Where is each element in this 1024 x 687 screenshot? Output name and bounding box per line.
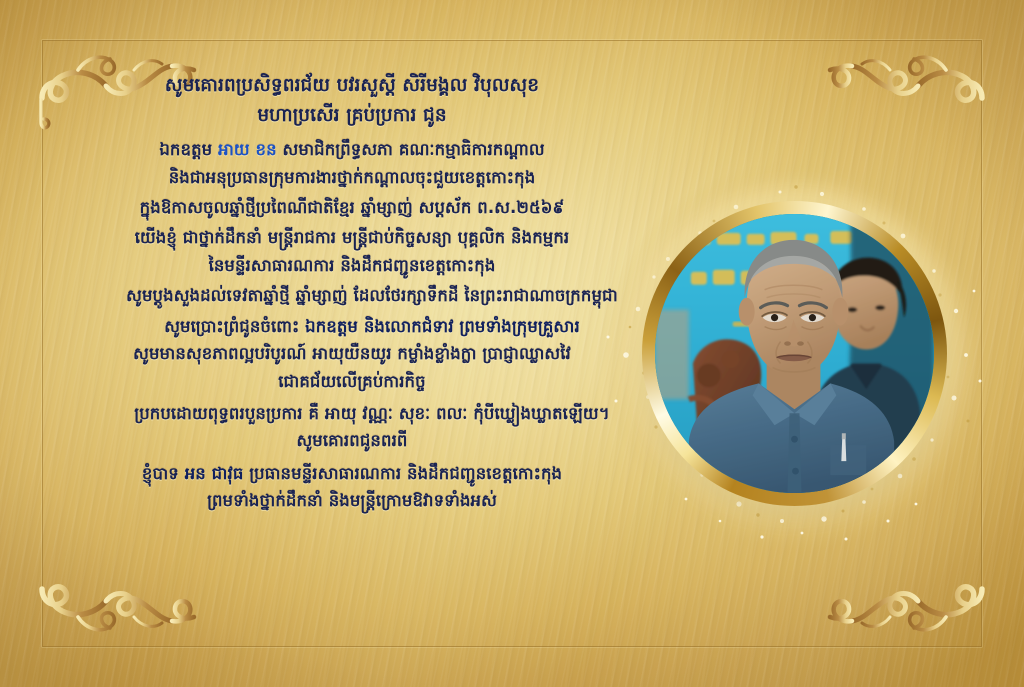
greeting-card: សូមគោរពប្រសិទ្ធពរជ័យ បវរសួស្ដី សិរីមង្គល… [0,0,1024,687]
greeting-body-line-4: យើងខ្ញុំ ជាថ្នាក់ដឹកនាំ មន្ត្រីរាជការ មន… [52,227,652,248]
greeting-closing-line-2: សូមគោរពជូនពរពី [52,430,652,451]
signature-line-2: ព្រមទាំងថ្នាក់ដឹកនាំ និងមន្ត្រីក្រោមឱវាទ… [52,490,652,511]
greeting-closing-line-1: ប្រកបដោយពុទ្ធពរបួនប្រការ គឺ អាយុ វណ្ណៈ ស… [52,403,692,424]
greeting-body-line-5: នៃមន្ទីរសាធារណការ និងដឹកជញ្ជូនខេត្តកោះកុ… [52,255,652,276]
portrait-photo [655,214,934,493]
recipient-title-suffix: សមាជិកព្រឹទ្ធសភា គណៈកម្មាធិការកណ្ដាល [277,140,545,159]
recipient-name: អាយ ខន [218,140,277,159]
greeting-body-line-1: ឯកឧត្ដម អាយ ខន សមាជិកព្រឹទ្ធសភា គណៈកម្មា… [52,139,652,160]
portrait-photo-frame [655,214,934,493]
signer-name: អន ជាវុធ [185,464,244,483]
honorific-prefix: ឯកឧត្ដម [159,140,218,159]
signature-line-1: ខ្ញុំបាទ អន ជាវុធ ប្រធានមន្ទីរសាធារណការ … [52,463,652,484]
blessing-prefix: សូមប្រោះព្រំជូនចំពោះ [164,317,305,336]
blessing-recipients: ឯកឧត្ដម និងលោកជំទាវ ព្រមទាំងក្រុមគ្រួសារ [305,317,580,336]
portrait-container [642,201,947,506]
signer-title: ប្រធានមន្ទីរសាធារណការ និងដឹកជញ្ជូនខេត្តក… [243,464,562,483]
greeting-title-line-1: សូមគោរពប្រសិទ្ធពរជ័យ បវរសួស្ដី សិរីមង្គល… [52,74,652,98]
greeting-body-line-7: សូមប្រោះព្រំជូនចំពោះ ឯកឧត្ដម និងលោកជំទាវ… [52,316,692,337]
signer-prefix: ខ្ញុំបាទ [142,464,185,483]
greeting-body-line-2: និងជាអនុប្រធានក្រុមការងារថ្នាក់កណ្ដាលចុះ… [52,167,652,188]
greeting-body-line-8: សូមមានសុខភាពល្អបរិបូរណ៍ អាយុយឺនយូរ កម្លា… [52,343,652,364]
greeting-text-block: សូមគោរពប្រសិទ្ធពរជ័យ បវរសួស្ដី សិរីមង្គល… [52,74,652,512]
greeting-body-line-9: ជោគជ័យលើគ្រប់ការកិច្ច [52,371,652,392]
greeting-body-line-6: សូមប្ដូងសួងដល់ទេវតាឆ្នាំថ្មី ឆ្នាំម្សាញ់… [52,285,692,306]
greeting-body-line-3: ក្នុងឱកាសចូលឆ្នាំថ្មីប្រពៃណីជាតិខ្មែរ ឆ្… [52,197,652,218]
greeting-title-line-2: មហាប្រសើរ គ្រប់ប្រការ ជូន [52,104,652,128]
